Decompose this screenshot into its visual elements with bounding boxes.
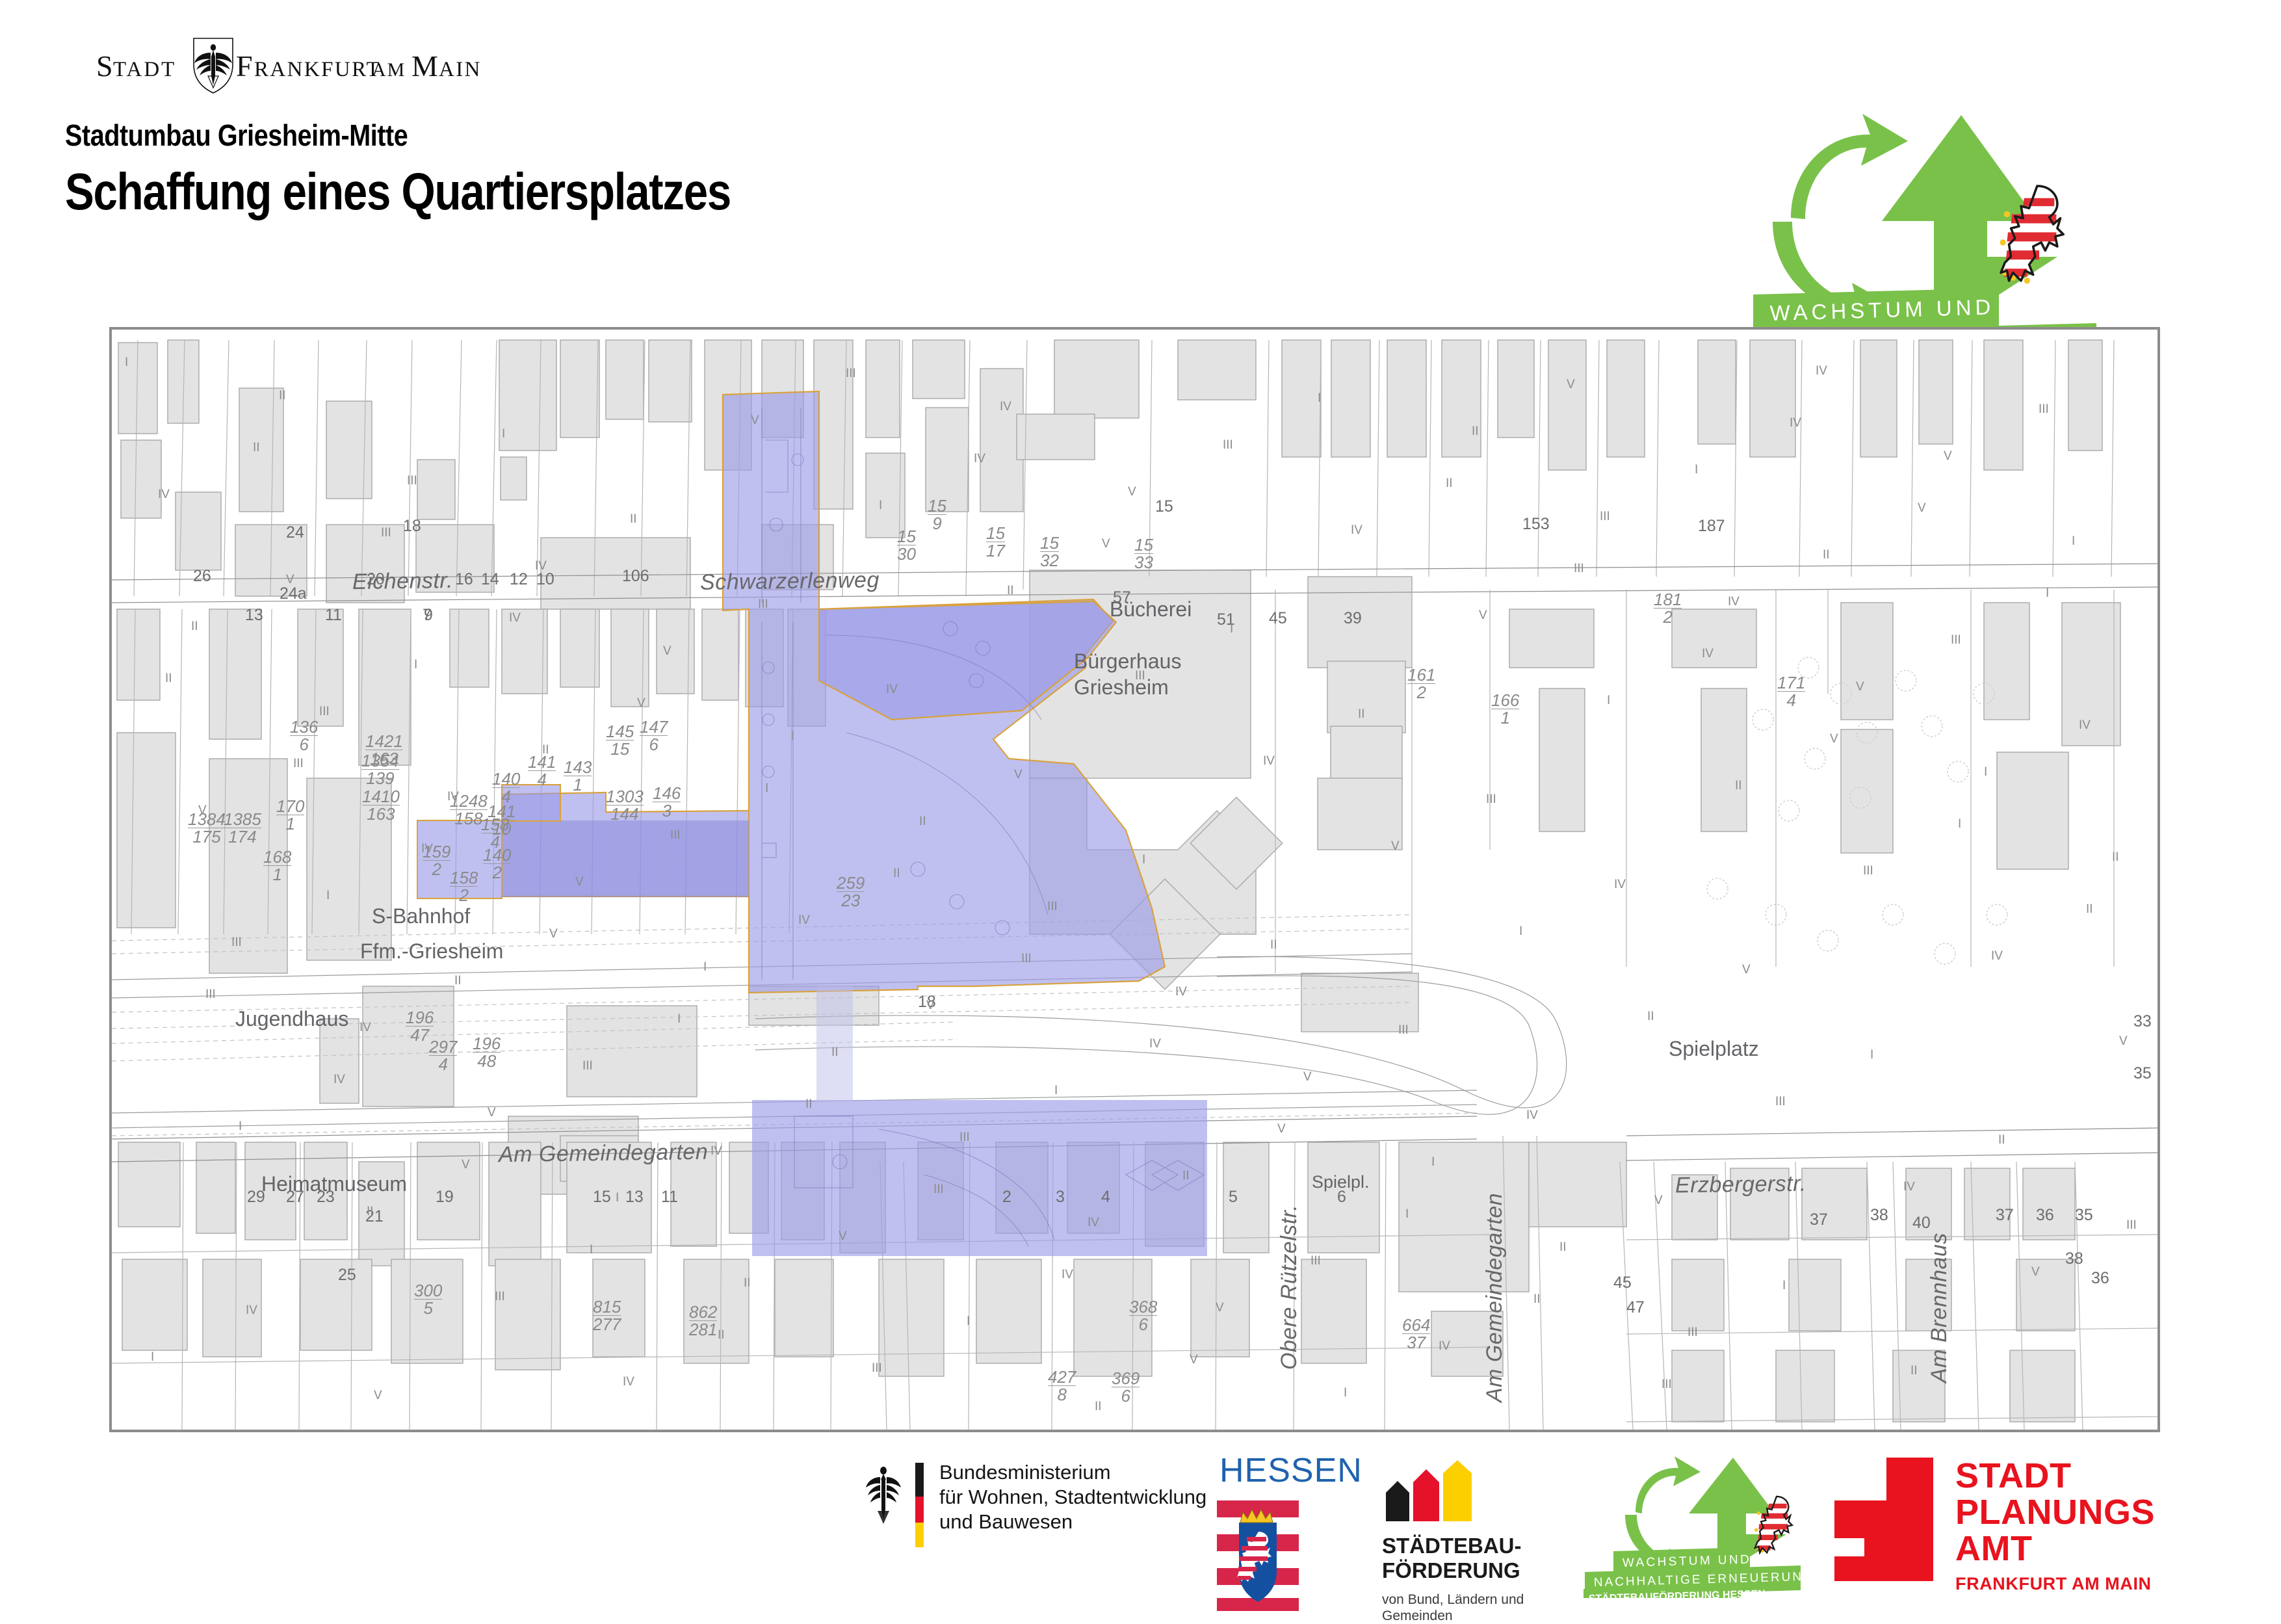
- storey-mark: III: [959, 1131, 970, 1145]
- sbf-title-line2: FÖRDERUNG: [1382, 1558, 1524, 1583]
- storey-mark: V: [1479, 609, 1487, 623]
- street-label-erzbergerstr: Erzbergerstr.: [1675, 1172, 1806, 1199]
- storey-mark: V: [1742, 963, 1751, 977]
- parcel-fraction: 1612: [1407, 666, 1435, 701]
- storey-mark: I: [239, 1120, 242, 1134]
- parcel-fraction: 159: [928, 497, 946, 532]
- street-label-obere-ruetzelstr: Obere Rützelstr.: [1277, 1205, 1302, 1370]
- storey-mark: V: [1128, 485, 1136, 499]
- parcel-house-number: 29: [247, 1188, 265, 1207]
- storey-mark: II: [1007, 584, 1014, 598]
- logo-hessen: HESSEN: [1217, 1451, 1362, 1614]
- storey-mark: IV: [447, 790, 459, 804]
- storey-mark: IV: [1351, 523, 1362, 538]
- parcel-fraction: 1431: [564, 759, 592, 793]
- storey-mark: I: [414, 658, 417, 672]
- storey-mark: I: [879, 499, 882, 513]
- storey-mark: IV: [333, 1073, 345, 1087]
- stadt-frankfurt-am-main-wordmark: S TADT F RANKFURT AM M AIN: [96, 36, 512, 96]
- storey-mark: IV: [974, 452, 985, 466]
- storey-mark: II: [1823, 548, 1830, 562]
- parcel-house-number: 40: [1912, 1214, 1931, 1233]
- parcel-fraction: 1530: [897, 528, 916, 562]
- storey-mark: IV: [798, 913, 810, 928]
- storey-mark: IV: [1614, 878, 1626, 892]
- title-block: Stadtumbau Griesheim-Mitte Schaffung ein…: [65, 120, 857, 218]
- parcel-house-number: 33: [2133, 1012, 2152, 1031]
- poi-label-spielplatz: Spielplatz: [1669, 1037, 1759, 1061]
- storey-mark: IV: [535, 559, 547, 573]
- parcel-fraction: 862281: [689, 1303, 717, 1338]
- storey-mark: II: [893, 867, 900, 881]
- storey-mark: V: [198, 804, 207, 818]
- storey-mark: II: [2112, 850, 2119, 865]
- logo-bundesministerium: Bundesministerium für Wohnen, Stadtentwi…: [865, 1460, 1206, 1547]
- storey-mark: II: [1533, 1292, 1541, 1307]
- parcel-house-number: 6: [1337, 1188, 1346, 1207]
- parcel-house-number: 37: [1996, 1206, 2014, 1225]
- storey-mark: II: [831, 1045, 839, 1060]
- parcel-label: 24a: [280, 584, 307, 603]
- storey-mark: IV: [1790, 416, 1801, 430]
- storey-mark: I: [1405, 1207, 1409, 1222]
- storey-mark: V: [575, 875, 584, 889]
- storey-mark: II: [1735, 779, 1742, 793]
- storey-mark: III: [1486, 792, 1496, 807]
- parcel-house-number: 35: [2133, 1064, 2152, 1083]
- storey-mark: II: [2086, 902, 2093, 917]
- storey-mark: II: [1647, 1010, 1654, 1024]
- storey-mark: V: [2119, 1034, 2128, 1049]
- parcel-house-number: 36: [2091, 1269, 2109, 1288]
- storey-mark: V: [1277, 1122, 1286, 1136]
- storey-mark: V: [751, 413, 759, 428]
- parcel-house-number: 11: [661, 1188, 678, 1207]
- storey-mark: I: [590, 1243, 593, 1257]
- parcel-fraction: 1584: [481, 816, 509, 850]
- storey-mark: I: [1782, 1279, 1786, 1293]
- parcel-fraction: 14515: [606, 723, 634, 757]
- parcel-house-number: 19: [436, 1188, 454, 1207]
- storey-mark: III: [1951, 633, 1961, 648]
- storey-mark: III: [1310, 1254, 1321, 1268]
- storey-mark: II: [253, 441, 260, 455]
- storey-mark: II: [1182, 1169, 1190, 1183]
- storey-mark: II: [805, 1097, 813, 1112]
- storey-mark: V: [663, 644, 671, 659]
- parcel-fraction: 1701: [276, 798, 304, 832]
- storey-mark: IV: [158, 488, 170, 502]
- storey-mark: I: [1431, 1155, 1435, 1170]
- sbf-title-line1: STÄDTEBAU-: [1382, 1534, 1524, 1558]
- storey-mark: III: [1688, 1326, 1698, 1340]
- storey-mark: III: [2039, 402, 2049, 417]
- storey-mark: IV: [359, 1021, 371, 1035]
- project-subtitle: Stadtumbau Griesheim-Mitte: [65, 120, 746, 150]
- storey-mark: III: [1600, 510, 1610, 524]
- svg-text:RANKFURT: RANKFURT: [254, 58, 381, 81]
- storey-mark: II: [744, 1276, 751, 1290]
- storey-mark: IV: [886, 683, 898, 697]
- svg-text:S: S: [96, 49, 114, 83]
- parcel-label: 11: [325, 606, 342, 625]
- svg-text:AIN: AIN: [439, 58, 482, 81]
- parcel-fraction: 1714: [1777, 674, 1805, 709]
- hessen-wordmark: HESSEN: [1219, 1451, 1362, 1490]
- storey-mark: II: [718, 1328, 725, 1342]
- bmwsb-line1: Bundesministerium: [939, 1460, 1206, 1485]
- parcel-fraction: 1661: [1491, 692, 1519, 726]
- parcel-label: 106: [622, 567, 649, 586]
- parcel-fraction: 3686: [1129, 1298, 1157, 1333]
- parcel-fraction: 815277: [593, 1298, 621, 1333]
- storey-mark: IV: [246, 1303, 257, 1318]
- svg-text:M: M: [411, 49, 438, 83]
- storey-mark: IV: [1526, 1108, 1538, 1123]
- storey-mark: V: [637, 696, 645, 711]
- storey-mark: III: [1135, 669, 1145, 683]
- storey-mark: I: [791, 729, 794, 744]
- parcel-label: 57: [1113, 588, 1131, 607]
- storey-mark: II: [191, 620, 198, 634]
- street-label-schwarzerlenweg: Schwarzerlenweg: [700, 568, 880, 596]
- parcel-house-number: 3: [1056, 1188, 1065, 1207]
- poi-label-ffm-griesheim: Ffm.-Griesheim: [360, 939, 503, 963]
- storey-mark: V: [1654, 1194, 1663, 1208]
- storey-mark: IV: [509, 611, 521, 625]
- storey-mark: III: [407, 474, 417, 488]
- storey-mark: II: [1270, 938, 1277, 952]
- parcel-fraction: 25923: [837, 874, 865, 909]
- storey-mark: I: [502, 427, 505, 441]
- parcel-fraction: 66437: [1402, 1316, 1430, 1351]
- parcel-label: 16: [455, 570, 473, 589]
- storey-mark: IV: [1175, 985, 1187, 999]
- parcel-label: 15: [1155, 497, 1173, 516]
- street-label-am-brennhaus: Am Brennhaus: [1927, 1233, 1952, 1383]
- storey-mark: I: [326, 889, 330, 903]
- parcel-fraction: 1812: [1654, 591, 1682, 625]
- parcel-house-number: 23: [317, 1188, 335, 1207]
- parcel-label: 153: [1522, 515, 1550, 534]
- parcel-fraction: 19648: [473, 1035, 501, 1069]
- storey-mark: V: [374, 1389, 382, 1403]
- storey-mark: V: [286, 573, 294, 587]
- storey-mark: I: [151, 1350, 154, 1365]
- storey-mark: III: [2126, 1218, 2137, 1233]
- highlight-south-area: [752, 1100, 1207, 1256]
- parcel-house-number: 2: [1002, 1188, 1011, 1207]
- storey-mark: III: [319, 705, 330, 719]
- bmwsb-line3: und Bauwesen: [939, 1510, 1206, 1534]
- storey-mark: II: [1095, 1400, 1102, 1414]
- storey-mark: IV: [1062, 1268, 1073, 1282]
- storey-mark: V: [1014, 768, 1023, 782]
- wachstum-footer-svg: WACHSTUM UND NACHHALTIGE ERNEUERUNG STÄD…: [1580, 1455, 1840, 1598]
- svg-text:TADT: TADT: [113, 58, 176, 81]
- storey-mark: II: [165, 672, 172, 686]
- storey-mark: III: [1574, 562, 1584, 576]
- parcel-label: 20: [367, 570, 385, 589]
- parcel-label: 45: [1269, 609, 1287, 628]
- parcel-label: 18: [403, 517, 421, 536]
- storey-mark: III: [872, 1361, 882, 1376]
- storey-mark: III: [495, 1290, 505, 1304]
- parcel-fraction: 1404: [492, 770, 520, 805]
- parcel-house-number: 15: [593, 1188, 611, 1207]
- storey-mark: I: [1230, 622, 1233, 636]
- parcel-fraction: 1414: [528, 753, 556, 788]
- parcel-fraction: 3005: [414, 1282, 442, 1316]
- storey-mark: V: [1944, 449, 1952, 464]
- parcel-label: 14: [481, 570, 499, 589]
- page-footer: Bundesministerium für Wohnen, Stadtentwi…: [0, 1437, 2281, 1612]
- storey-mark: IV: [1263, 754, 1275, 768]
- storey-mark: III: [1021, 952, 1032, 966]
- cadastral-map[interactable]: Eichenstr. Schwarzerlenweg Am Gemeindega…: [109, 327, 2160, 1432]
- storey-mark: I: [1318, 391, 1321, 406]
- storey-mark: III: [1775, 1095, 1786, 1109]
- storey-mark: V: [1303, 1070, 1312, 1084]
- storey-mark: II: [1998, 1133, 2005, 1147]
- highlight-connector: [816, 986, 853, 1103]
- poi-label-s-bahnhof: S-Bahnhof: [372, 904, 470, 928]
- storey-mark: IV: [1702, 647, 1714, 661]
- storey-mark: IV: [1149, 1037, 1161, 1051]
- storey-mark: II: [1358, 707, 1365, 722]
- parcel-house-number: 5: [1229, 1188, 1238, 1207]
- svg-text:F: F: [236, 49, 253, 83]
- storey-mark: III: [205, 988, 216, 1002]
- storey-mark: V: [1830, 732, 1838, 746]
- parcel-fraction: 1366: [290, 718, 318, 753]
- storey-mark: II: [1472, 425, 1479, 439]
- storey-mark: II: [279, 389, 286, 403]
- storey-mark: V: [839, 1229, 847, 1244]
- storey-mark: IV: [1088, 1216, 1099, 1230]
- storey-mark: I: [1958, 817, 1961, 832]
- stadtplanungsamt-mark-icon: [1834, 1458, 1933, 1581]
- storey-mark: II: [367, 1205, 374, 1219]
- storey-mark: II: [919, 815, 926, 829]
- parcel-house-number: 4: [1101, 1188, 1110, 1207]
- storey-mark: IV: [1991, 949, 2003, 963]
- parcel-house-number: 36: [2036, 1206, 2054, 1225]
- parcel-house-number: 13: [625, 1188, 644, 1207]
- parcel-house-number: 27: [286, 1188, 304, 1207]
- storey-mark: IV: [1439, 1339, 1450, 1354]
- parcel-label: 12: [510, 570, 528, 589]
- storey-mark: II: [1446, 477, 1453, 491]
- storey-mark: IV: [421, 842, 433, 856]
- storey-mark: V: [1102, 537, 1110, 551]
- storey-mark: III: [1398, 1023, 1409, 1038]
- parcel-fraction: 1410163: [362, 788, 400, 822]
- parcel-fraction: 1303144: [606, 788, 644, 822]
- storey-mark: III: [293, 757, 304, 771]
- storey-mark: IV: [623, 1375, 634, 1389]
- parcel-label: 26: [193, 567, 211, 586]
- storey-mark: IV: [1000, 400, 1011, 414]
- storey-mark: V: [1856, 680, 1864, 694]
- city-logo: S TADT F RANKFURT AM M AIN: [96, 36, 512, 94]
- parcel-fraction: 3696: [1112, 1370, 1140, 1404]
- storey-mark: V: [488, 1106, 496, 1120]
- parcel-fraction: 1476: [640, 718, 668, 753]
- parcel-fraction: 1532: [1040, 534, 1059, 569]
- storey-mark: I: [1344, 1386, 1347, 1400]
- highlight-inner-block: [502, 820, 749, 897]
- page-header: S TADT F RANKFURT AM M AIN Stadtumbau Gr…: [0, 0, 2281, 306]
- storey-mark: V: [1190, 1353, 1198, 1367]
- storey-mark: III: [231, 936, 242, 950]
- storey-mark: II: [454, 974, 462, 988]
- storey-mark: V: [926, 999, 935, 1013]
- parcel-fraction: 1681: [263, 848, 291, 883]
- parcel-fraction: 4278: [1048, 1369, 1076, 1403]
- poi-label-jugendhaus: Jugendhaus: [235, 1007, 348, 1031]
- parcel-house-number: 35: [2075, 1206, 2093, 1225]
- parcel-label: 187: [1698, 517, 1725, 536]
- sbf-sub-line1: von Bund, Ländern und: [1382, 1591, 1524, 1608]
- storey-mark: II: [1910, 1364, 1918, 1378]
- storey-mark: III: [670, 828, 681, 843]
- storey-mark: III: [1223, 438, 1233, 452]
- storey-mark: II: [630, 512, 637, 527]
- parcel-house-number: 45: [1613, 1274, 1632, 1292]
- storey-mark: III: [758, 597, 768, 612]
- storey-mark: III: [582, 1059, 593, 1073]
- storey-mark: I: [1695, 463, 1698, 477]
- storey-mark: III: [846, 367, 856, 381]
- storey-mark: I: [1607, 694, 1610, 708]
- parcel-house-number: 25: [338, 1266, 356, 1285]
- parcel-fraction: 1463: [653, 785, 681, 819]
- storey-mark: I: [677, 1012, 681, 1027]
- parcel-house-number: 37: [1810, 1211, 1828, 1229]
- storey-mark: III: [1863, 864, 1873, 878]
- storey-mark: IV: [1903, 1180, 1915, 1194]
- storey-mark: II: [542, 743, 549, 757]
- storey-mark: I: [2072, 534, 2075, 549]
- storey-mark: III: [381, 526, 391, 540]
- storey-mark: V: [1391, 839, 1400, 854]
- logo-stadtplanungsamt: STADT PLANUNGS AMT FRANKFURT AM MAIN: [1834, 1458, 2155, 1594]
- storey-mark: I: [1519, 924, 1522, 939]
- storey-mark: I: [703, 960, 707, 975]
- storey-mark: V: [1918, 501, 1926, 516]
- storey-mark: I: [1870, 1048, 1873, 1062]
- storey-mark: IV: [1816, 364, 1827, 378]
- three-houses-icon: [1382, 1460, 1473, 1521]
- parcel-house-number: 38: [2065, 1250, 2083, 1268]
- storey-mark: I: [616, 1191, 619, 1205]
- parcel-fraction: 1421163: [365, 733, 403, 767]
- storey-mark: V: [2031, 1265, 2040, 1279]
- storey-mark: I: [1054, 1084, 1058, 1098]
- storey-mark: III: [1662, 1378, 1672, 1392]
- street-label-am-gemeindegarten-2: Am Gemeindegarten: [1482, 1193, 1507, 1402]
- logo-wachstum-footer: WACHSTUM UND NACHHALTIGE ERNEUERUNG STÄD…: [1580, 1455, 1840, 1601]
- sbf-sub-line2: Gemeinden: [1382, 1608, 1524, 1624]
- storey-mark: IV: [2079, 718, 2091, 733]
- parcel-fraction: 1517: [986, 525, 1005, 559]
- storey-mark: V: [1216, 1301, 1224, 1315]
- frankfurt-eagle-coat-of-arms: [194, 38, 233, 93]
- spa-line3: AMT: [1955, 1530, 2155, 1567]
- storey-mark: IV: [710, 1144, 722, 1159]
- storey-mark: I: [1984, 765, 1987, 779]
- storey-mark: V: [462, 1158, 470, 1172]
- storey-mark: I: [2046, 586, 2049, 601]
- storey-mark: I: [765, 781, 768, 796]
- storey-mark: III: [1047, 900, 1058, 914]
- parcel-label: 7: [423, 606, 432, 625]
- parcel-label: 39: [1344, 609, 1362, 628]
- storey-mark: IV: [1728, 595, 1740, 609]
- parcel-fraction: 1533: [1134, 536, 1153, 571]
- parcel-fraction: 2974: [429, 1038, 457, 1073]
- parcel-label: 13: [245, 606, 263, 625]
- spa-line4: FRANKFURT AM MAIN: [1955, 1574, 2155, 1594]
- storey-mark: V: [1567, 378, 1575, 392]
- bundesadler-eagle-icon: [865, 1460, 902, 1533]
- storey-mark: I: [967, 1315, 970, 1329]
- parcel-label: 24: [286, 523, 304, 542]
- spa-line2: PLANUNGS: [1955, 1494, 2155, 1530]
- parcel-fraction: 1582: [450, 869, 478, 904]
- storey-mark: III: [933, 1183, 944, 1197]
- storey-mark: I: [1142, 853, 1145, 867]
- street-label-am-gemeindegarten: Am Gemeindegarten: [499, 1140, 709, 1168]
- hessen-shield-flag-icon: [1217, 1494, 1299, 1611]
- poi-label-buergerhaus: Bürgerhaus: [1074, 649, 1181, 674]
- storey-mark: I: [125, 356, 128, 370]
- storey-mark: II: [1559, 1240, 1567, 1255]
- parcel-house-number: 47: [1626, 1298, 1645, 1317]
- logo-staedtebaufoerderung: STÄDTEBAU- FÖRDERUNG von Bund, Ländern u…: [1382, 1460, 1524, 1624]
- parcel-fraction: 1385174: [224, 811, 261, 845]
- spa-line1: STADT: [1955, 1458, 2155, 1494]
- page-title: Schaffung eines Quartiersplatzes: [65, 166, 731, 218]
- svg-text:AM: AM: [372, 59, 406, 81]
- parcel-house-number: 38: [1870, 1206, 1888, 1225]
- storey-mark: V: [549, 927, 558, 941]
- poi-label-griesheim: Griesheim: [1074, 675, 1169, 700]
- bmwsb-line2: für Wohnen, Stadtentwicklung: [939, 1485, 1206, 1510]
